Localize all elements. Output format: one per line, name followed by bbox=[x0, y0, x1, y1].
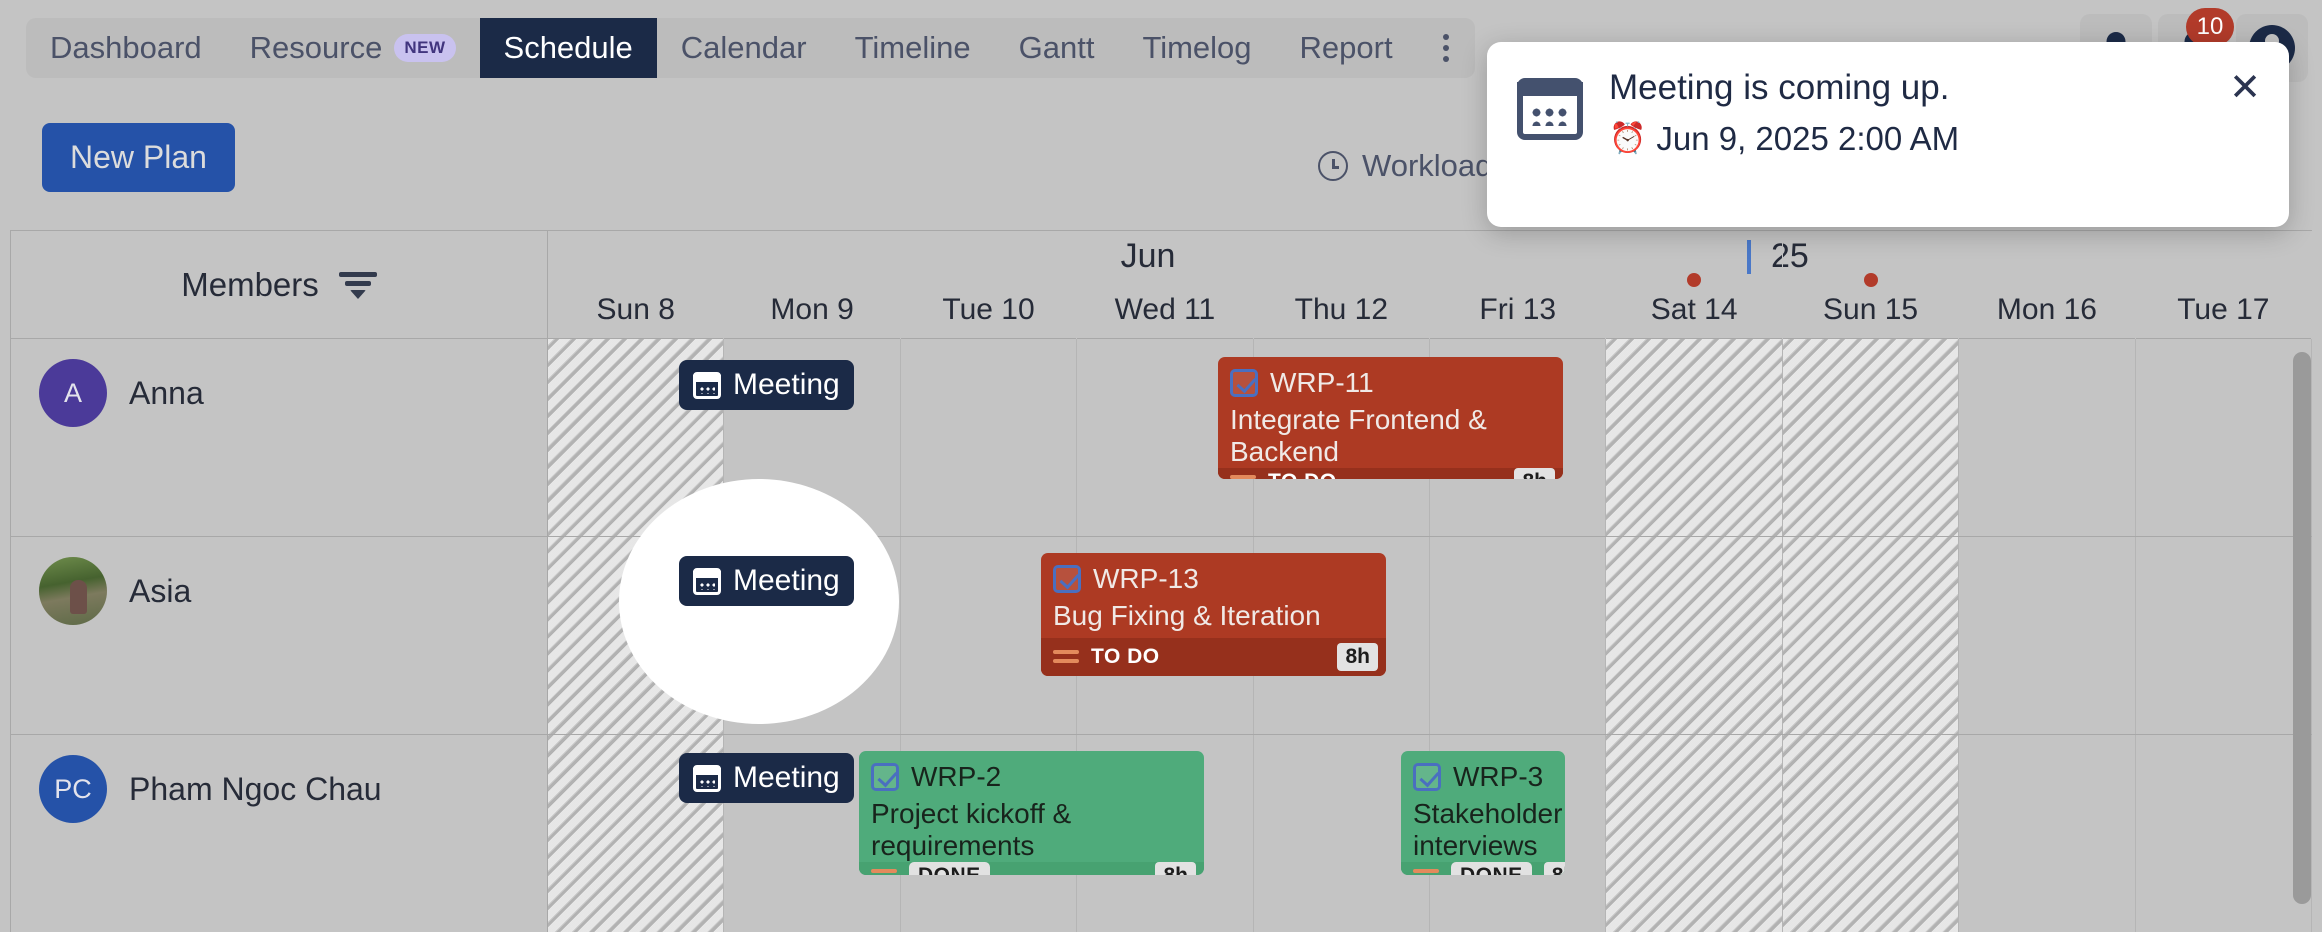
priority-icon bbox=[871, 867, 897, 875]
member-rows: A Anna Meeting WRP-11 Integ bbox=[11, 339, 2312, 932]
day-event-dot bbox=[1687, 273, 1701, 287]
toast-title: Meeting is coming up. bbox=[1609, 68, 1959, 108]
task-card-footer: TO DO 8h bbox=[1041, 638, 1386, 676]
tab-calendar-label: Calendar bbox=[681, 30, 807, 66]
nav-tab-group: Dashboard Resource NEW Schedule Calendar… bbox=[26, 18, 1475, 78]
close-icon[interactable]: ✕ bbox=[2223, 66, 2267, 110]
toast-datetime: Jun 9, 2025 2:00 AM bbox=[1656, 120, 1959, 158]
task-key: WRP-11 bbox=[1270, 367, 1374, 399]
member-name: Anna bbox=[129, 359, 204, 412]
task-title: Integrate Frontend & Backend bbox=[1230, 404, 1551, 468]
tab-schedule[interactable]: Schedule bbox=[480, 18, 657, 78]
tab-timeline[interactable]: Timeline bbox=[831, 18, 995, 78]
members-header-label: Members bbox=[181, 266, 319, 304]
day-event-dot bbox=[1864, 273, 1878, 287]
task-card-wrp-2[interactable]: WRP-2 Project kickoff & requirements DON… bbox=[859, 751, 1204, 875]
meeting-toast-notification: Meeting is coming up. ⏰ Jun 9, 2025 2:00… bbox=[1487, 42, 2289, 227]
priority-icon bbox=[1053, 648, 1079, 666]
task-key-row: WRP-3 bbox=[1413, 761, 1553, 793]
table-row: PC Pham Ngoc Chau Meeting WRP-2 bbox=[11, 735, 2312, 932]
toast-subtitle: ⏰ Jun 9, 2025 2:00 AM bbox=[1609, 120, 1959, 158]
day-label: Thu 12 bbox=[1295, 293, 1388, 327]
tab-schedule-label: Schedule bbox=[504, 30, 633, 66]
tab-resource-label: Resource bbox=[250, 30, 383, 66]
schedule-app: Dashboard Resource NEW Schedule Calendar… bbox=[0, 0, 2322, 932]
member-cell-anna[interactable]: A Anna bbox=[11, 339, 548, 536]
task-card-wrp-11[interactable]: WRP-11 Integrate Frontend & Backend TO D… bbox=[1218, 357, 1563, 479]
meeting-chip-label: Meeting bbox=[733, 368, 840, 402]
avatar bbox=[39, 557, 107, 625]
member-cell-pham-ngoc-chau[interactable]: PC Pham Ngoc Chau bbox=[11, 735, 548, 932]
member-cell-asia[interactable]: Asia bbox=[11, 537, 548, 734]
tab-report[interactable]: Report bbox=[1276, 18, 1417, 78]
task-card-footer: DONE 8h bbox=[859, 862, 1204, 875]
task-key: WRP-2 bbox=[911, 761, 1001, 793]
filter-icon[interactable] bbox=[339, 270, 377, 300]
meeting-chip[interactable]: Meeting bbox=[679, 753, 854, 803]
estimate-badge: 8h bbox=[1337, 643, 1378, 671]
day-label: Mon 9 bbox=[770, 293, 853, 327]
task-title: Bug Fixing & Iteration bbox=[1053, 600, 1374, 632]
day-label: Mon 16 bbox=[1997, 293, 2097, 327]
task-key-row: WRP-2 bbox=[871, 761, 1192, 793]
table-row: Asia Meeting WRP-13 Bug Fixing & Iterat bbox=[11, 537, 2312, 735]
day-header-tue-10[interactable]: Tue 10 bbox=[901, 231, 1077, 339]
tab-resource-new-badge: NEW bbox=[394, 34, 455, 62]
tab-dashboard[interactable]: Dashboard bbox=[26, 18, 226, 78]
task-card-footer: DONE 8h bbox=[1401, 862, 1565, 875]
calendar-icon bbox=[693, 765, 721, 792]
task-key: WRP-13 bbox=[1093, 563, 1199, 595]
task-card-wrp-13[interactable]: WRP-13 Bug Fixing & Iteration TO DO 8h bbox=[1041, 553, 1386, 676]
meeting-chip[interactable]: Meeting bbox=[679, 556, 854, 606]
calendar-icon bbox=[693, 568, 721, 595]
day-label: Sun 15 bbox=[1823, 293, 1918, 327]
member-name: Asia bbox=[129, 557, 191, 610]
vertical-scrollbar[interactable] bbox=[2288, 338, 2316, 926]
status-badge: DONE bbox=[909, 862, 990, 875]
task-card-body: WRP-13 Bug Fixing & Iteration bbox=[1041, 553, 1386, 638]
status-badge: DONE bbox=[1451, 862, 1532, 875]
calendar-icon bbox=[693, 372, 721, 399]
scrollbar-thumb[interactable] bbox=[2293, 352, 2311, 904]
task-checkbox-icon[interactable] bbox=[1053, 565, 1081, 593]
day-label: Tue 10 bbox=[942, 293, 1034, 327]
status-badge: TO DO bbox=[1268, 470, 1337, 479]
schedule-grid-header: Members Jun 25 Sun 8 Mon 9 Tue 10 Wed 11… bbox=[11, 231, 2312, 339]
day-header-fri-13[interactable]: Fri 13 bbox=[1430, 231, 1606, 339]
task-card-wrp-3[interactable]: WRP-3 Stakeholder interviews DONE 8h bbox=[1401, 751, 1565, 875]
day-label: Tue 17 bbox=[2177, 293, 2269, 327]
toast-content: Meeting is coming up. ⏰ Jun 9, 2025 2:00… bbox=[1517, 68, 2259, 158]
meeting-chip-label: Meeting bbox=[733, 564, 840, 598]
member-name: Pham Ngoc Chau bbox=[129, 755, 382, 808]
avatar: A bbox=[39, 359, 107, 427]
avatar: PC bbox=[39, 755, 107, 823]
estimate-badge: 8h bbox=[1514, 468, 1555, 479]
task-key-row: WRP-11 bbox=[1230, 367, 1551, 399]
priority-icon bbox=[1230, 473, 1256, 479]
task-title: Project kickoff & requirements bbox=[871, 798, 1192, 862]
calendar-icon bbox=[1517, 78, 1583, 140]
task-key-row: WRP-13 bbox=[1053, 563, 1374, 595]
day-header-mon-9[interactable]: Mon 9 bbox=[724, 231, 900, 339]
task-card-body: WRP-2 Project kickoff & requirements bbox=[859, 751, 1204, 862]
status-badge: TO DO bbox=[1091, 645, 1160, 669]
notification-count-badge: 10 bbox=[2186, 8, 2234, 46]
schedule-grid-body: A Anna Meeting WRP-11 Integ bbox=[11, 339, 2312, 932]
day-header-sat-14[interactable]: Sat 14 bbox=[1606, 231, 1782, 339]
tab-dashboard-label: Dashboard bbox=[50, 30, 202, 66]
clock-icon bbox=[1318, 151, 1348, 181]
tab-timeline-label: Timeline bbox=[855, 30, 971, 66]
day-header-thu-12[interactable]: Thu 12 bbox=[1254, 231, 1430, 339]
priority-icon bbox=[1413, 867, 1439, 875]
day-header-sun-8[interactable]: Sun 8 bbox=[548, 231, 724, 339]
task-card-body: WRP-3 Stakeholder interviews bbox=[1401, 751, 1565, 862]
workload-label: Workload bbox=[1362, 148, 1492, 184]
tab-calendar[interactable]: Calendar bbox=[657, 18, 831, 78]
day-header-sun-15[interactable]: Sun 15 bbox=[1783, 231, 1959, 339]
tab-gantt-label: Gantt bbox=[1019, 30, 1095, 66]
tab-timelog[interactable]: Timelog bbox=[1118, 18, 1275, 78]
estimate-badge: 8h bbox=[1544, 862, 1565, 875]
day-header-mon-16[interactable]: Mon 16 bbox=[1959, 231, 2135, 339]
new-plan-button[interactable]: New Plan bbox=[42, 123, 235, 192]
task-card-footer: TO DO 8h bbox=[1218, 468, 1563, 479]
table-row: A Anna Meeting WRP-11 Integ bbox=[11, 339, 2312, 537]
meeting-chip-label: Meeting bbox=[733, 761, 840, 795]
day-label: Wed 11 bbox=[1115, 293, 1216, 327]
day-header-tue-17[interactable]: Tue 17 bbox=[2136, 231, 2312, 339]
day-label: Sun 8 bbox=[597, 293, 675, 327]
tab-report-label: Report bbox=[1300, 30, 1393, 66]
day-headers: Sun 8 Mon 9 Tue 10 Wed 11 Thu 12 Fri 13 … bbox=[548, 231, 2312, 339]
workload-button[interactable]: Workload bbox=[1318, 148, 1492, 184]
schedule-grid: Members Jun 25 Sun 8 Mon 9 Tue 10 Wed 11… bbox=[10, 230, 2312, 932]
members-column-header: Members bbox=[11, 231, 548, 339]
task-checkbox-icon[interactable] bbox=[1230, 369, 1258, 397]
tab-timelog-label: Timelog bbox=[1142, 30, 1251, 66]
day-header-wed-11[interactable]: Wed 11 bbox=[1077, 231, 1253, 339]
task-checkbox-icon[interactable] bbox=[871, 763, 899, 791]
day-label: Sat 14 bbox=[1651, 293, 1738, 327]
alarm-clock-icon: ⏰ bbox=[1609, 124, 1646, 154]
task-checkbox-icon[interactable] bbox=[1413, 763, 1441, 791]
task-key: WRP-3 bbox=[1453, 761, 1543, 793]
task-card-body: WRP-11 Integrate Frontend & Backend bbox=[1218, 357, 1563, 468]
meeting-chip[interactable]: Meeting bbox=[679, 360, 854, 410]
estimate-badge: 8h bbox=[1155, 862, 1196, 875]
kebab-menu-icon[interactable] bbox=[1417, 18, 1475, 78]
tab-resource[interactable]: Resource NEW bbox=[226, 18, 480, 78]
tab-gantt[interactable]: Gantt bbox=[995, 18, 1119, 78]
day-label: Fri 13 bbox=[1479, 293, 1556, 327]
task-title: Stakeholder interviews bbox=[1413, 798, 1553, 862]
